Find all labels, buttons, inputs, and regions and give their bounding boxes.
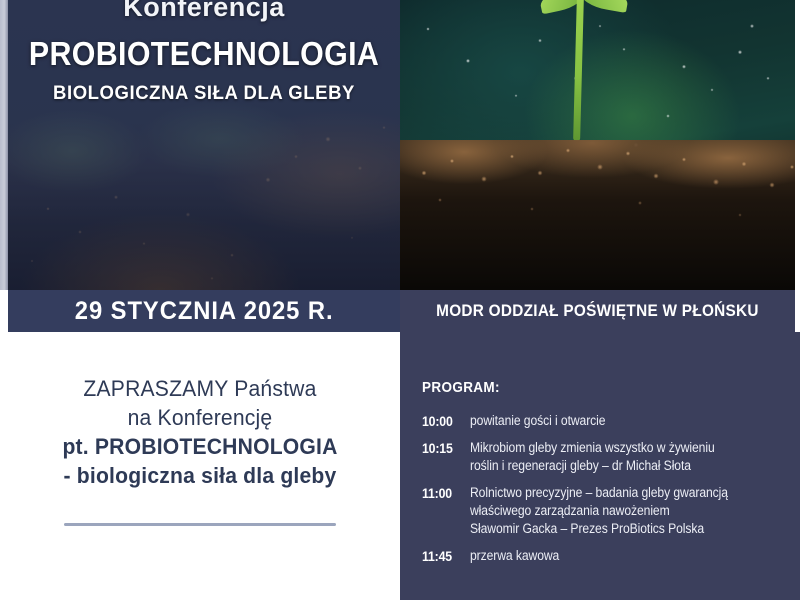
venue-text: MODR ODDZIAŁ POŚWIĘTNE W PŁOŃSKU: [436, 302, 759, 321]
program-description-line: powitanie gości i otwarcie: [470, 412, 762, 430]
program-description-line: roślin i regeneracji gleby – dr Michał S…: [470, 457, 762, 475]
left-edge-strip: [0, 0, 8, 290]
invitation-lines: ZAPRASZAMY Państwa na Konferencję pt. PR…: [0, 374, 400, 490]
hero-title-block: Konferencja PROBIOTECHNOLOGIA BIOLOGICZN…: [8, 0, 400, 105]
page-title: PROBIOTECHNOLOGIA: [24, 35, 385, 73]
program-time: 11:00: [422, 484, 464, 537]
date-bar: 29 STYCZNIA 2025 R.: [8, 290, 400, 332]
program-time: 11:45: [422, 547, 464, 565]
program-description-line: właściwego zarządzania nawożeniem: [470, 502, 762, 520]
program-time: 10:15: [422, 439, 464, 475]
invitation-line-3: pt. PROBIOTECHNOLOGIA: [8, 432, 392, 461]
hero-kicker: Konferencja: [8, 0, 400, 21]
program-description-line: Mikrobiom gleby zmienia wszystko w żywie…: [470, 439, 762, 457]
program-row: 11:00Rolnictwo precyzyjne – badania gleb…: [422, 484, 794, 537]
program-description-line: przerwa kawowa: [470, 547, 762, 565]
program-description-line: Rolnictwo precyzyjne – badania gleby gwa…: [470, 484, 762, 502]
program-time: 10:00: [422, 412, 464, 430]
venue-bar: MODR ODDZIAŁ POŚWIĘTNE W PŁOŃSKU: [400, 290, 795, 332]
program-list: 10:00powitanie gości i otwarcie10:15Mikr…: [422, 412, 794, 574]
program-description: Rolnictwo precyzyjne – badania gleby gwa…: [470, 484, 762, 537]
right-edge-strip: [795, 0, 800, 332]
program-description: przerwa kawowa: [470, 547, 762, 565]
invitation-line-2: na Konferencję: [8, 403, 392, 432]
invitation-line-4: - biologiczna siła dla gleby: [8, 461, 392, 490]
program-row: 10:15Mikrobiom gleby zmienia wszystko w …: [422, 439, 794, 475]
invitation-panel: ZAPRASZAMY Państwa na Konferencję pt. PR…: [0, 332, 400, 600]
program-heading: PROGRAM:: [422, 379, 500, 396]
hero-subtitle: BIOLOGICZNA SIŁA DLA GLEBY: [18, 82, 390, 105]
conference-poster: Konferencja PROBIOTECHNOLOGIA BIOLOGICZN…: [0, 0, 800, 600]
hero-section: Konferencja PROBIOTECHNOLOGIA BIOLOGICZN…: [0, 0, 800, 332]
program-row: 10:00powitanie gości i otwarcie: [422, 412, 794, 430]
invitation-divider: [64, 523, 336, 526]
invitation-line-1: ZAPRASZAMY Państwa: [8, 374, 392, 403]
date-text: 29 STYCZNIA 2025 R.: [75, 297, 334, 326]
program-row: 11:45przerwa kawowa: [422, 547, 794, 565]
program-description: powitanie gości i otwarcie: [470, 412, 762, 430]
soil-mound-grain: [400, 140, 800, 290]
program-panel: PROGRAM: 10:00powitanie gości i otwarcie…: [400, 332, 800, 600]
hero-right-seedling-image: [400, 0, 800, 290]
program-description: Mikrobiom gleby zmienia wszystko w żywie…: [470, 439, 762, 475]
program-description-line: Sławomir Gacka – Prezes ProBiotics Polsk…: [470, 520, 762, 538]
